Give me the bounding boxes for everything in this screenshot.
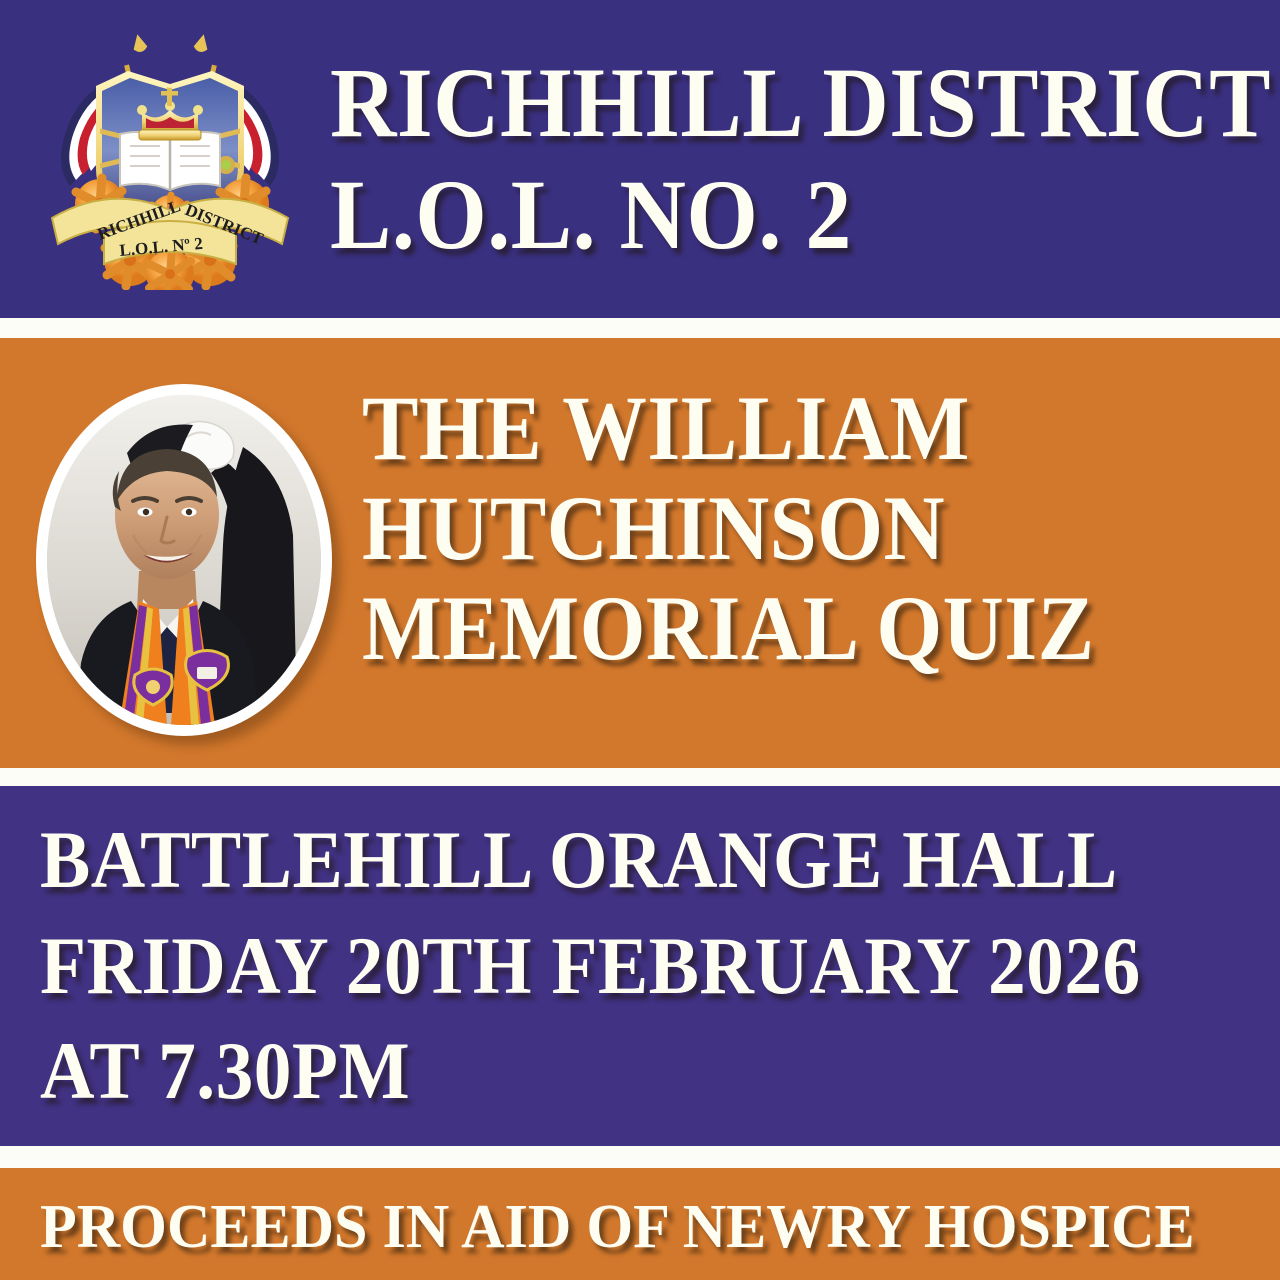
open-bible xyxy=(120,132,220,190)
quiz-title: THE WILLIAM HUTCHINSON MEMORIAL QUIZ xyxy=(362,382,1095,681)
quiz-title-line1: THE WILLIAM xyxy=(362,382,1095,476)
event-time: AT 7.30PM xyxy=(40,1029,1141,1113)
event-date: FRIDAY 20TH FEBRUARY 2026 xyxy=(40,924,1141,1008)
event-details: BATTLEHILL ORANGE HALL FRIDAY 20TH FEBRU… xyxy=(40,818,1141,1135)
event-venue: BATTLEHILL ORANGE HALL xyxy=(40,818,1141,902)
crest-banner-ribbon: RICHHILL DISTRICT L.O.L. Nº 2 xyxy=(52,196,288,264)
proceeds-note: PROCEEDS IN AID OF NEWRY HOSPICE xyxy=(40,1196,1195,1259)
quiz-title-line3: MEMORIAL QUIZ xyxy=(362,582,1095,676)
poster-root: RICHHILL DISTRICT L.O.L. Nº 2 RICHHILL D… xyxy=(0,0,1280,1280)
header-line2: L.O.L. NO. 2 xyxy=(330,164,1271,266)
memorial-portrait xyxy=(36,384,332,736)
header-title: RICHHILL DISTRICT L.O.L. NO. 2 xyxy=(330,52,1271,266)
portrait-image xyxy=(47,395,321,725)
lodge-crest-logo: RICHHILL DISTRICT L.O.L. Nº 2 xyxy=(34,28,306,290)
quiz-title-line2: HUTCHINSON xyxy=(362,482,1095,576)
header-line1: RICHHILL DISTRICT xyxy=(330,52,1271,154)
